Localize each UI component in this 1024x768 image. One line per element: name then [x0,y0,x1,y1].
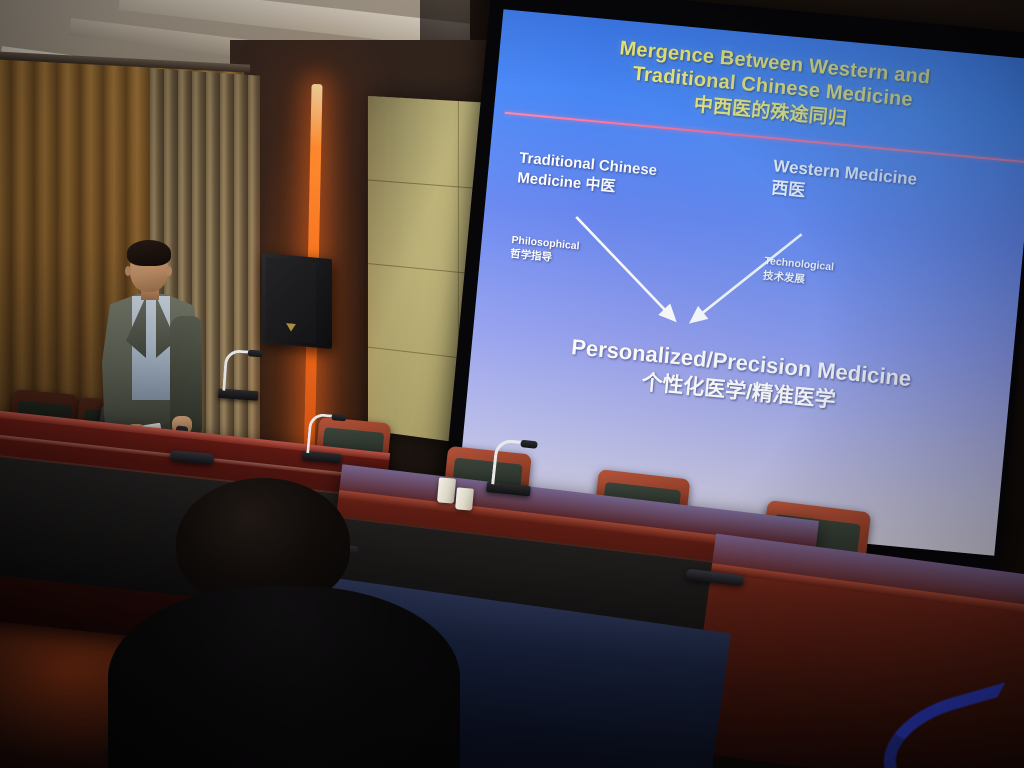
audience-shoulders [108,586,460,768]
presenter-ear [166,266,172,276]
arrow-left [568,217,682,319]
wall-speaker [262,253,332,349]
conference-room-photo: Mergence Between Western and Traditional… [0,0,1024,768]
presenter-hair [127,240,171,266]
presenter-ear [125,266,131,276]
audience-member [140,478,470,768]
arrow-right [693,225,802,330]
converging-arrows [457,9,1024,548]
projection-screen: Mergence Between Western and Traditional… [457,9,1024,556]
